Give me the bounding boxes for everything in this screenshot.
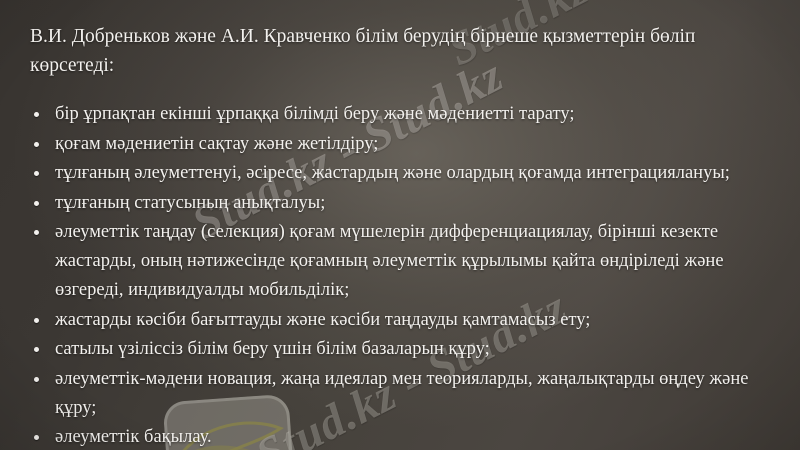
list-item: әлеуметтік таңдау (селекция) қоғам мүшел… [30, 218, 782, 305]
list-item: бір ұрпақтан екінші ұрпаққа білімді беру… [30, 100, 782, 129]
list-item: сатылы үзіліссіз білім беру үшін білім б… [30, 335, 782, 364]
presentation-slide: Stud.kz - Stud.kz Stud.kz - Stud.kz Stud… [0, 0, 800, 450]
bullet-list: бір ұрпақтан екінші ұрпаққа білімді беру… [30, 100, 782, 450]
slide-content: В.И. Добреньков және А.И. Кравченко білі… [0, 0, 800, 450]
slide-intro-paragraph: В.И. Добреньков және А.И. Кравченко білі… [30, 22, 772, 80]
list-item: әлеуметтік бақылау. [30, 423, 782, 450]
list-item: әлеуметтік-мәдени новация, жаңа идеялар … [30, 365, 782, 423]
list-item: қоғам мәдениетін сақтау және жетілдіру; [30, 130, 782, 159]
list-item: жастарды кәсіби бағыттауды және кәсіби т… [30, 306, 782, 335]
list-item: тұлғаның әлеуметтенуі, әсіресе, жастарды… [30, 159, 782, 188]
list-item: тұлғаның статусының анықталуы; [30, 189, 782, 218]
